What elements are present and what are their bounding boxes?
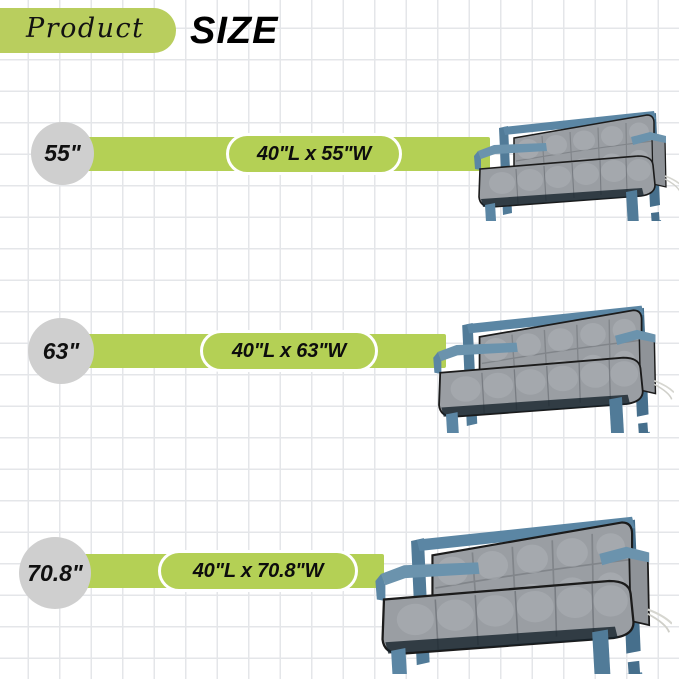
bench-image-55 bbox=[466, 63, 679, 226]
dimension-pill-63: 40"L x 63"W bbox=[200, 330, 378, 372]
size-badge-label: 70.8" bbox=[27, 560, 83, 587]
bench-image-70 bbox=[364, 448, 672, 679]
bench-illustration bbox=[364, 448, 672, 674]
product-size-infographic: Product SIZE 55" 40"L x 55"W bbox=[0, 0, 679, 679]
dimension-label: 40"L x 63"W bbox=[232, 340, 346, 363]
bench-image-63 bbox=[424, 250, 674, 438]
header: Product SIZE bbox=[0, 0, 679, 62]
page-title: SIZE bbox=[190, 8, 278, 54]
header-script-word: Product bbox=[26, 8, 176, 53]
size-badge-55: 55" bbox=[31, 122, 94, 185]
bench-illustration bbox=[424, 250, 674, 433]
dimension-pill-70: 40"L x 70.8"W bbox=[158, 550, 358, 592]
dimension-label: 40"L x 55"W bbox=[257, 143, 371, 166]
dimension-pill-55: 40"L x 55"W bbox=[226, 133, 402, 175]
size-badge-70: 70.8" bbox=[19, 537, 91, 609]
bench-illustration bbox=[466, 63, 679, 221]
dimension-label: 40"L x 70.8"W bbox=[193, 560, 324, 583]
size-badge-63: 63" bbox=[28, 318, 94, 384]
size-badge-label: 55" bbox=[44, 140, 81, 167]
size-badge-label: 63" bbox=[43, 338, 80, 365]
